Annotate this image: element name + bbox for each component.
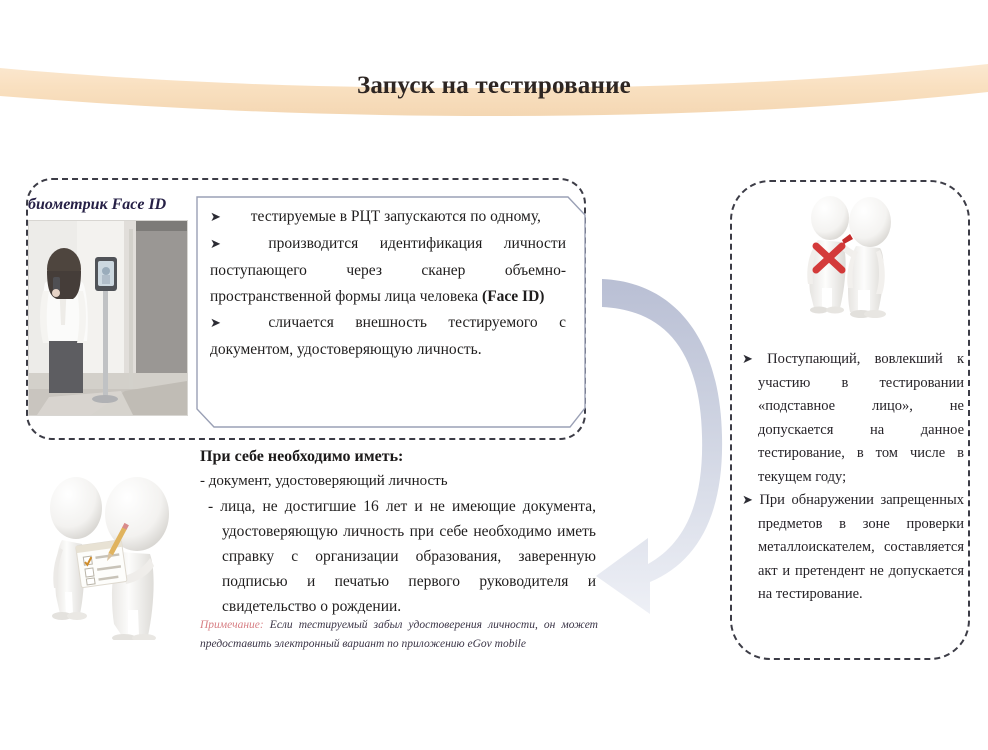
callout-item-2: ➤ производится идентификация личности по… — [210, 231, 566, 310]
curved-arrow-icon — [588, 276, 734, 624]
photo-caption-faceid: биометрик Face ID — [28, 196, 166, 214]
callout-item-1: ➤ тестируемые в РЦТ запускаются по одном… — [210, 204, 566, 231]
callout-text: ➤ тестируемые в РЦТ запускаются по одном… — [210, 204, 566, 363]
bullet-arrow-icon: ➤ — [210, 237, 221, 252]
right-rules-text: ➤ Поступающий, вовлекший к участию в тес… — [742, 348, 964, 607]
requirements-item-1: - документ, удостоверяющий личность — [200, 470, 596, 493]
faceid-callout-bubble: ➤ тестируемые в РЦТ запускаются по одном… — [196, 196, 586, 428]
requirements-heading: При себе необходимо иметь: — [200, 446, 596, 468]
right-rule-1: ➤ Поступающий, вовлекший к участию в тес… — [742, 348, 964, 489]
bullet-arrow-icon: ➤ — [210, 210, 221, 225]
figures-impostor-illustration — [782, 192, 932, 318]
requirements-block: При себе необходимо иметь: - документ, у… — [200, 446, 596, 619]
bullet-arrow-icon: ➤ — [742, 493, 753, 508]
page-title: Запуск на тестирование — [0, 72, 988, 100]
faceid-photo — [28, 220, 188, 416]
right-rule-2: ➤ При обнаружении запрещенных предметов … — [742, 489, 964, 607]
note-label: Примечание: — [200, 619, 264, 631]
figures-checklist-illustration — [32, 464, 202, 640]
slide-canvas: Запуск на тестирование биометрик Face ID — [0, 0, 988, 750]
requirements-item-2: - лица, не достигшие 16 лет и не имеющие… — [200, 494, 596, 619]
bullet-arrow-icon: ➤ — [742, 352, 753, 367]
bullet-arrow-icon: ➤ — [210, 316, 221, 331]
callout-item-3: ➤ сличается внешность тестируемого с док… — [210, 310, 566, 363]
note-block: Примечание: Если тестируемый забыл удост… — [200, 616, 598, 654]
